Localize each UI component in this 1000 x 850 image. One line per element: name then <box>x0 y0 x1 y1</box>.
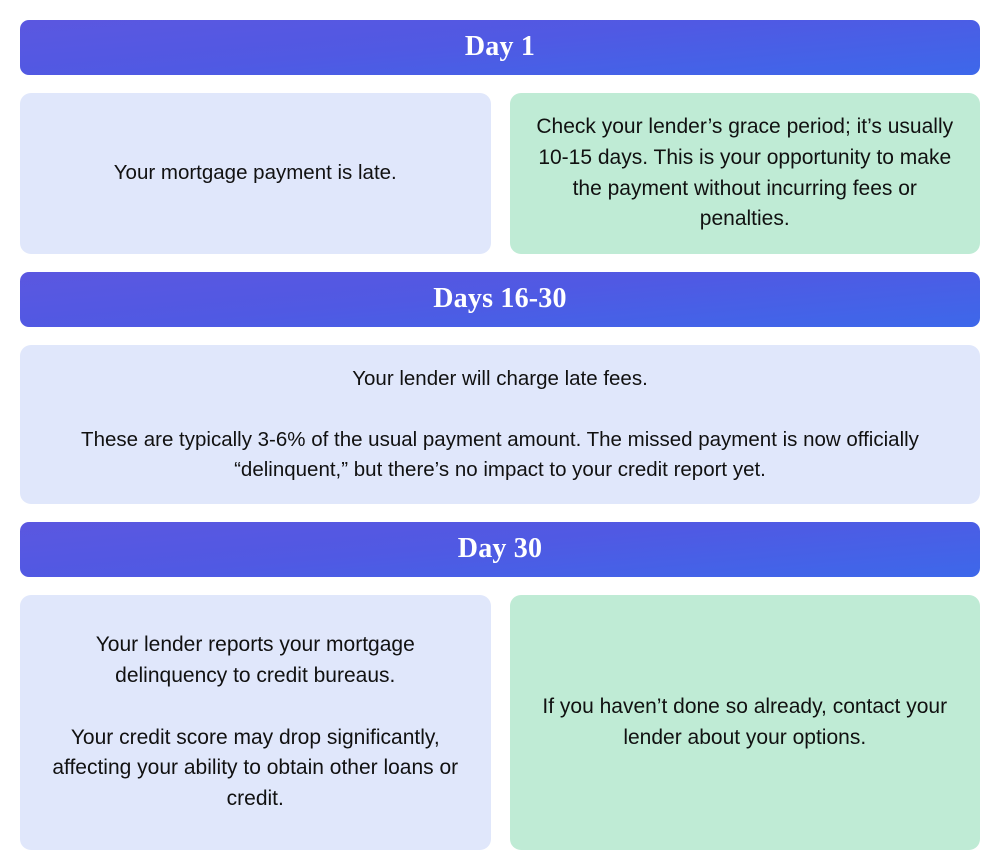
card-day-1-action: Check your lender’s grace period; it’s u… <box>510 93 981 254</box>
section-header-day-30: Day 30 <box>20 522 980 577</box>
card-paragraph: These are typically 3-6% of the usual pa… <box>48 425 952 485</box>
section-header-days-16-30: Days 16-30 <box>20 272 980 327</box>
card-day-30-action: If you haven’t done so already, contact … <box>510 595 981 850</box>
cards-row-day-1: Your mortgage payment is late. Check you… <box>20 93 980 254</box>
cards-row-day-30: Your lender reports your mortgage delinq… <box>20 595 980 850</box>
timeline-section-days-16-30: Days 16-30 Your lender will charge late … <box>20 272 980 504</box>
card-paragraph: Your lender reports your mortgage delinq… <box>42 630 469 692</box>
card-paragraph: Your lender will charge late fees. <box>48 364 952 394</box>
card-paragraph: Your mortgage payment is late. <box>42 158 469 188</box>
card-day-1-status: Your mortgage payment is late. <box>20 93 491 254</box>
cards-row-days-16-30: Your lender will charge late fees. These… <box>20 345 980 504</box>
card-day-30-status: Your lender reports your mortgage delinq… <box>20 595 491 850</box>
timeline-section-day-30: Day 30 Your lender reports your mortgage… <box>20 522 980 850</box>
card-paragraph: Check your lender’s grace period; it’s u… <box>532 112 959 235</box>
card-paragraph: If you haven’t done so already, contact … <box>532 692 959 754</box>
infographic-page: Day 1 Your mortgage payment is late. Che… <box>0 0 1000 845</box>
card-days-16-30-status: Your lender will charge late fees. These… <box>20 345 980 504</box>
card-paragraph: Your credit score may drop significantly… <box>42 723 469 816</box>
timeline-section-day-1: Day 1 Your mortgage payment is late. Che… <box>20 20 980 254</box>
section-header-day-1: Day 1 <box>20 20 980 75</box>
